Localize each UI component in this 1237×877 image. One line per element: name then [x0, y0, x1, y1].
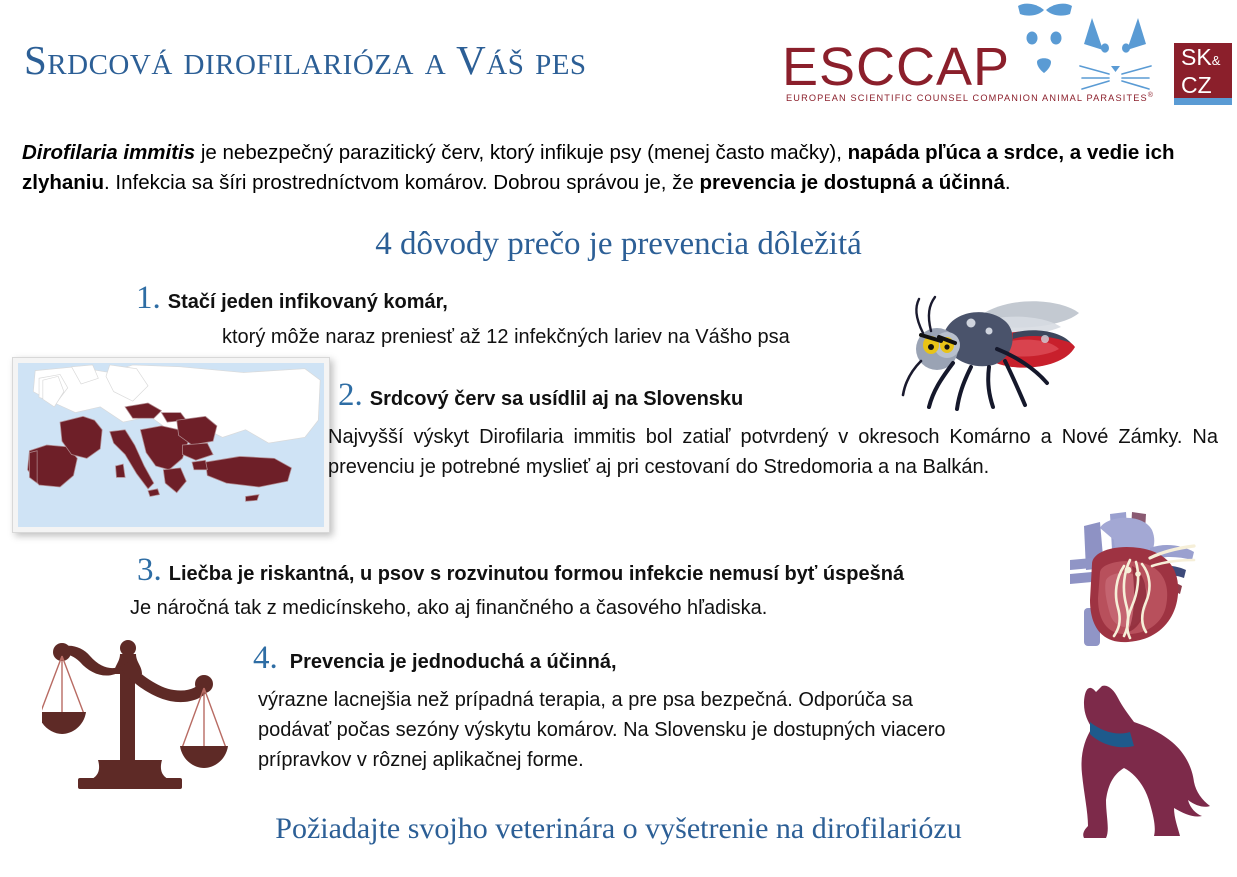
- map-svg: [18, 363, 324, 527]
- skcz-badge: SK& CZ: [1174, 43, 1232, 105]
- point-3-body: Je náročná tak z medicínskeho, ako aj fi…: [130, 597, 767, 620]
- skcz-badge-text: SK& CZ: [1181, 45, 1220, 98]
- map-canvas: [18, 363, 324, 527]
- point-1-title: Stačí jeden infikovaný komár,: [168, 291, 448, 313]
- scales-svg: [42, 632, 242, 792]
- point-2-heading: 2.Srdcový červ sa usídlil aj na Slovensk…: [338, 377, 743, 414]
- point-4-heading: 4.Prevencia je jednoduchá a účinná,: [253, 640, 617, 677]
- mosquito-illustration: [893, 287, 1108, 412]
- mosquito-svg: [893, 287, 1108, 412]
- intro-bold-2: prevencia je dostupná a účinná: [700, 171, 1005, 194]
- infographic-page: Srdcová dirofilarióza a Váš pes ESCCAP E…: [0, 0, 1237, 877]
- point-1-body: ktorý môže naraz preniesť až 12 infekčný…: [222, 326, 790, 349]
- point-3-heading: 3.Liečba je riskantná, u psov s rozvinut…: [137, 552, 904, 589]
- heart-illustration: [1066, 508, 1206, 648]
- balance-scales-illustration: [42, 632, 242, 792]
- heart-svg: [1066, 508, 1206, 648]
- point-3-title: Liečba je riskantná, u psov s rozvinutou…: [169, 563, 904, 585]
- esccap-wordmark: ESCCAP: [782, 36, 1010, 98]
- skcz-line2: CZ: [1181, 72, 1212, 98]
- point-3-number: 3.: [137, 552, 162, 588]
- footer-call-to-action: Požiadajte svojho veterinára o vyšetreni…: [0, 812, 1237, 846]
- intro-text-2: . Infekcia sa šíri prostredníctvom komár…: [104, 171, 700, 194]
- intro-text-3: .: [1005, 171, 1011, 194]
- skcz-ampersand: &: [1212, 53, 1221, 68]
- point-2-title: Srdcový červ sa usídlil aj na Slovensku: [370, 388, 744, 410]
- intro-text-1: je nebezpečný parazitický červ, ktorý in…: [195, 141, 847, 164]
- esccap-logo: ESCCAP EUROPEAN SCIENTIFIC COUNSEL COMPA…: [782, 0, 1237, 115]
- point-4-number: 4.: [253, 640, 278, 676]
- skcz-accent-bar: [1174, 98, 1232, 105]
- reasons-heading: 4 dôvody prečo je prevencia dôležitá: [0, 226, 1237, 263]
- intro-paragraph: Dirofilaria immitis je nebezpečný parazi…: [22, 138, 1220, 198]
- point-4-title: Prevencia je jednoduchá a účinná,: [290, 651, 617, 673]
- dog-cat-art-icon: [1010, 0, 1160, 105]
- skcz-line1: SK: [1181, 44, 1212, 70]
- point-4-body: výrazne lacnejšia než prípadná terapia, …: [258, 685, 958, 775]
- intro-species-name: Dirofilaria immitis: [22, 141, 195, 164]
- point-2-body: Najvyšší výskyt Dirofilaria immitis bol …: [328, 422, 1218, 482]
- point-1-heading: 1.Stačí jeden infikovaný komár,: [136, 280, 448, 317]
- page-title: Srdcová dirofilarióza a Váš pes: [24, 36, 587, 84]
- point-1-number: 1.: [136, 280, 161, 316]
- europe-endemic-map: [12, 357, 330, 533]
- point-2-number: 2.: [338, 377, 363, 413]
